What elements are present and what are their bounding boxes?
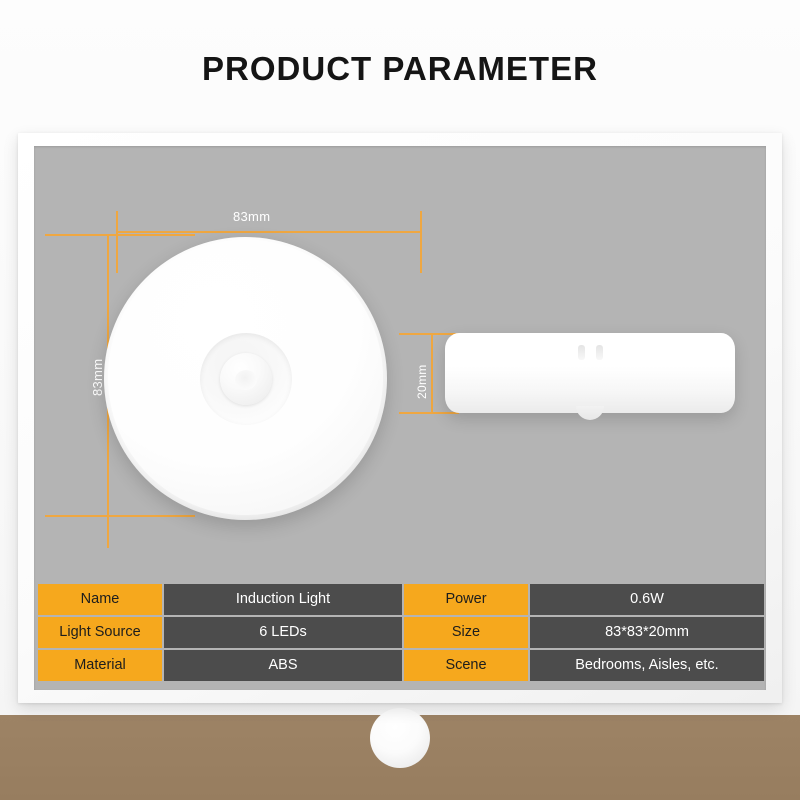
thickness-dimension-label: 20mm xyxy=(415,364,429,399)
thickness-dimension-tick-bottom xyxy=(399,412,459,414)
height-dimension-tick-bottom xyxy=(45,515,195,517)
pir-sensor-dome xyxy=(220,353,272,405)
spec-label-material: Material xyxy=(38,650,162,681)
width-dimension-tick-left xyxy=(116,211,118,273)
spec-label-scene: Scene xyxy=(404,650,528,681)
height-dimension-label: 83mm xyxy=(90,359,105,396)
spec-value-light-source: 6 LEDs xyxy=(164,617,402,648)
height-dimension-tick-top xyxy=(45,234,195,236)
sensor-well xyxy=(200,333,292,425)
thickness-dimension-tick-top xyxy=(399,333,459,335)
thickness-dimension-line xyxy=(431,333,433,414)
spec-value-size: 83*83*20mm xyxy=(530,617,764,648)
lamp-side-slot-left xyxy=(578,345,585,360)
width-dimension-label: 83mm xyxy=(233,209,270,224)
lamp-side-highlight xyxy=(451,337,729,367)
spec-label-light-source: Light Source xyxy=(38,617,162,648)
lamp-top-view xyxy=(104,237,387,520)
spec-label-power: Power xyxy=(404,584,528,615)
spec-label-name: Name xyxy=(38,584,162,615)
width-dimension-line xyxy=(116,231,422,233)
page-title: PRODUCT PARAMETER xyxy=(0,50,800,88)
width-dimension-tick-right xyxy=(420,211,422,273)
lamp-side-slot-right xyxy=(596,345,603,360)
spec-label-size: Size xyxy=(404,617,528,648)
specification-table: Name Induction Light Power 0.6W Light So… xyxy=(38,584,758,681)
spec-value-name: Induction Light xyxy=(164,584,402,615)
floor-knob-circle xyxy=(370,708,430,768)
product-parameter-poster: PRODUCT PARAMETER 83mm 83mm 20mm xyxy=(0,0,800,800)
spec-value-material: ABS xyxy=(164,650,402,681)
spec-value-scene: Bedrooms, Aisles, etc. xyxy=(530,650,764,681)
lamp-side-view xyxy=(445,333,735,413)
pir-sensor-core xyxy=(235,370,257,390)
spec-value-power: 0.6W xyxy=(530,584,764,615)
